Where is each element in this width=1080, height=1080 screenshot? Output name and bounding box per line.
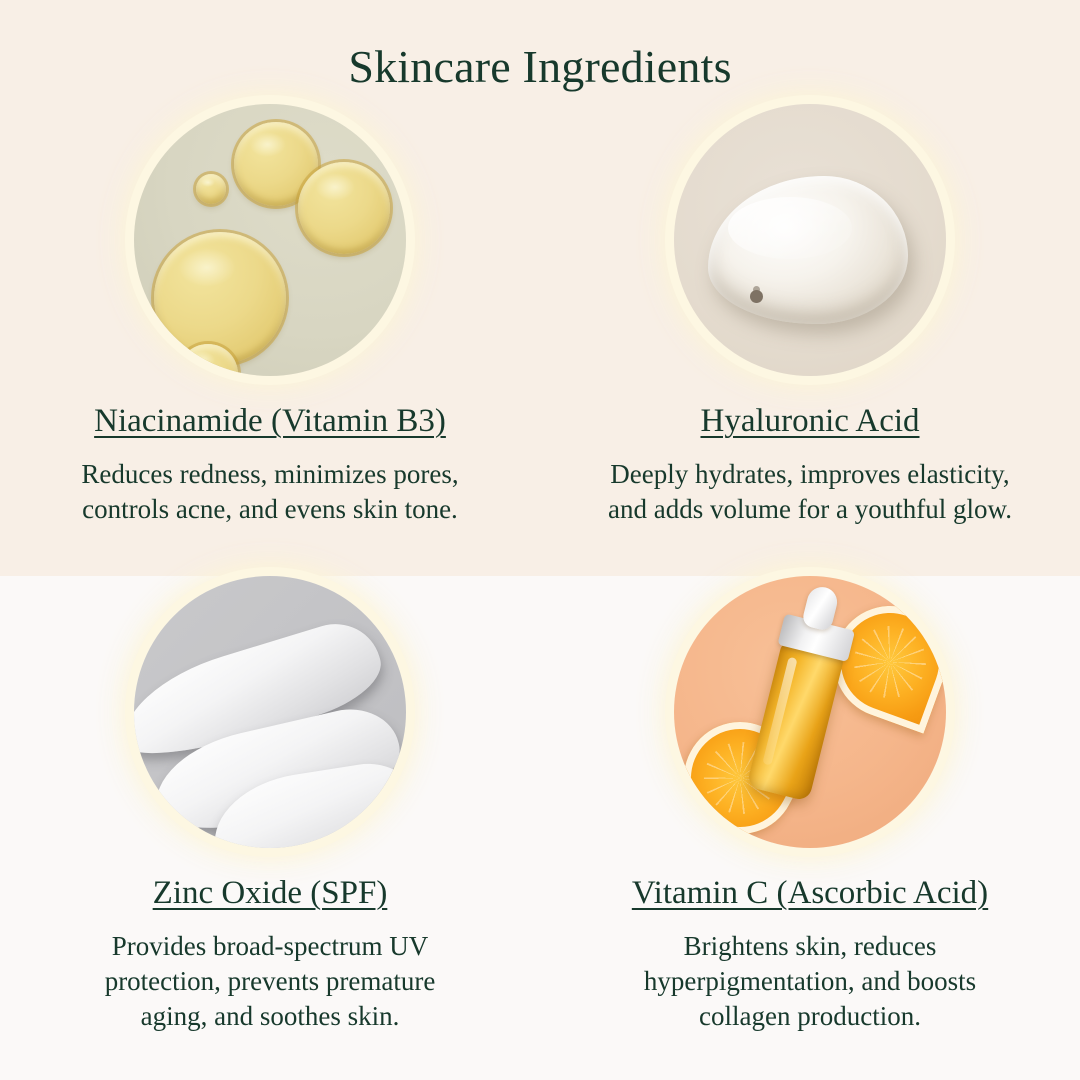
cream-swatch-scene	[134, 576, 406, 848]
oil-droplet-large	[154, 232, 286, 364]
gel-blob-scene	[674, 104, 946, 376]
oil-droplet-tiny	[196, 174, 226, 204]
oil-droplet-right	[298, 162, 390, 254]
serum-bottle-image	[674, 576, 946, 848]
ingredient-description: Reduces redness, minimizes pores, contro…	[60, 457, 480, 527]
infographic-page: Skincare Ingredients Niacinamide (Vitami…	[0, 0, 1080, 1080]
ingredient-card-vitamin-c: Vitamin C (Ascorbic Acid) Brightens skin…	[540, 576, 1080, 1048]
oil-droplets-scene	[134, 104, 406, 376]
gel-bubble	[750, 290, 763, 303]
ingredient-description: Deeply hydrates, improves elasticity, an…	[600, 457, 1020, 527]
serum-bottle	[746, 641, 844, 802]
gel-blob-image	[674, 104, 946, 376]
gel-blob-shape	[708, 176, 908, 324]
oil-droplets-image	[134, 104, 406, 376]
ingredient-description: Brightens skin, reduces hyperpigmentatio…	[600, 929, 1020, 1034]
page-title: Skincare Ingredients	[0, 40, 1080, 93]
ingredient-card-zinc-oxide: Zinc Oxide (SPF) Provides broad-spectrum…	[0, 576, 540, 1048]
ingredient-card-hyaluronic-acid: Hyaluronic Acid Deeply hydrates, improve…	[540, 104, 1080, 576]
ingredient-card-niacinamide: Niacinamide (Vitamin B3) Reduces redness…	[0, 104, 540, 576]
ingredient-description: Provides broad-spectrum UV protection, p…	[70, 929, 470, 1034]
ingredient-heading: Vitamin C (Ascorbic Acid)	[632, 874, 988, 913]
ingredient-heading: Zinc Oxide (SPF)	[153, 874, 388, 913]
ingredient-grid: Niacinamide (Vitamin B3) Reduces redness…	[0, 104, 1080, 1048]
ingredient-heading: Hyaluronic Acid	[700, 402, 919, 441]
ingredient-heading: Niacinamide (Vitamin B3)	[94, 402, 446, 441]
dropper-bulb	[801, 584, 840, 632]
cream-swatch-image	[134, 576, 406, 848]
serum-bottle-scene	[674, 576, 946, 848]
